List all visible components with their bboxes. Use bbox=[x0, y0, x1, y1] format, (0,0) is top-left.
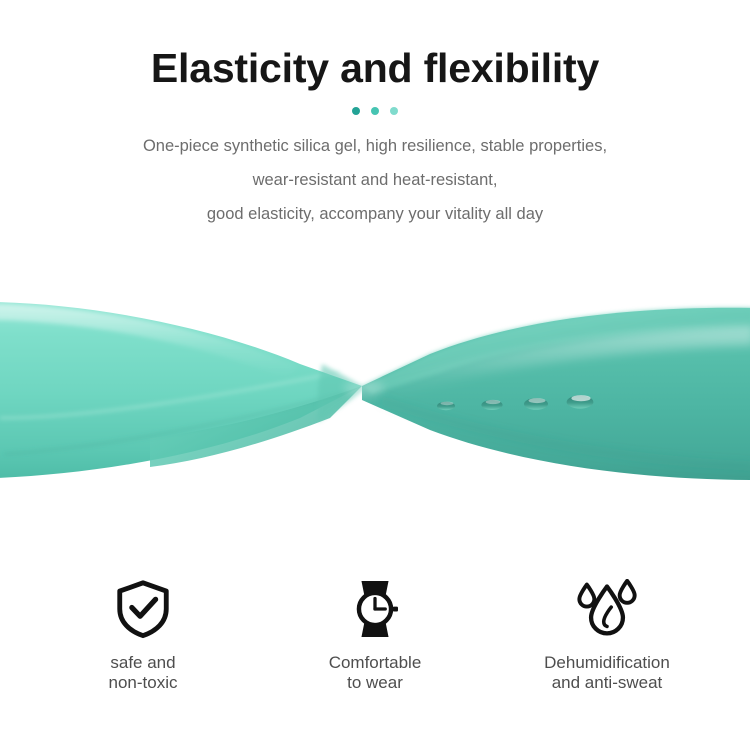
header-block: Elasticity and flexibility One-piece syn… bbox=[0, 0, 750, 231]
twisted-band-illustration bbox=[0, 268, 750, 518]
dot-medium-icon bbox=[371, 107, 379, 115]
feature-label-line-1: Dehumidification bbox=[544, 653, 670, 673]
subtitle-line-2: wear-resistant and heat-resistant, bbox=[0, 163, 750, 197]
band-twist-glint bbox=[344, 379, 384, 397]
feature-label-line-1: safe and bbox=[109, 653, 178, 673]
feature-comfortable-to-wear: Comfortable to wear bbox=[259, 578, 491, 693]
product-feature-banner: Elasticity and flexibility One-piece syn… bbox=[0, 0, 750, 750]
subtitle-line-1: One-piece synthetic silica gel, high res… bbox=[0, 129, 750, 163]
water-droplets-icon bbox=[574, 578, 640, 640]
feature-label-line-2: and anti-sweat bbox=[544, 673, 670, 693]
band-hole-1-highlight bbox=[441, 402, 454, 406]
subtitle-block: One-piece synthetic silica gel, high res… bbox=[0, 129, 750, 231]
feature-dehumidification: Dehumidification and anti-sweat bbox=[491, 578, 723, 693]
dot-light-icon bbox=[390, 107, 398, 115]
page-title: Elasticity and flexibility bbox=[0, 46, 750, 90]
shield-check-icon bbox=[112, 578, 174, 640]
feature-label-line-2: to wear bbox=[329, 673, 422, 693]
band-hole-3-highlight bbox=[529, 398, 546, 403]
decorative-dots bbox=[0, 106, 750, 115]
band-hole-2-highlight bbox=[486, 400, 501, 404]
product-image bbox=[0, 268, 750, 518]
band-hole-4-highlight bbox=[571, 395, 590, 401]
feature-label-line-1: Comfortable bbox=[329, 653, 422, 673]
wristwatch-icon bbox=[346, 578, 404, 640]
subtitle-line-3: good elasticity, accompany your vitality… bbox=[0, 197, 750, 231]
feature-dehumidification-label: Dehumidification and anti-sweat bbox=[544, 653, 670, 693]
dot-dark-icon bbox=[352, 107, 360, 115]
feature-safe-non-toxic-label: safe and non-toxic bbox=[109, 653, 178, 693]
feature-safe-non-toxic: safe and non-toxic bbox=[27, 578, 259, 693]
feature-row: safe and non-toxic bbox=[0, 578, 750, 708]
feature-comfortable-to-wear-label: Comfortable to wear bbox=[329, 653, 422, 693]
feature-label-line-2: non-toxic bbox=[109, 673, 178, 693]
